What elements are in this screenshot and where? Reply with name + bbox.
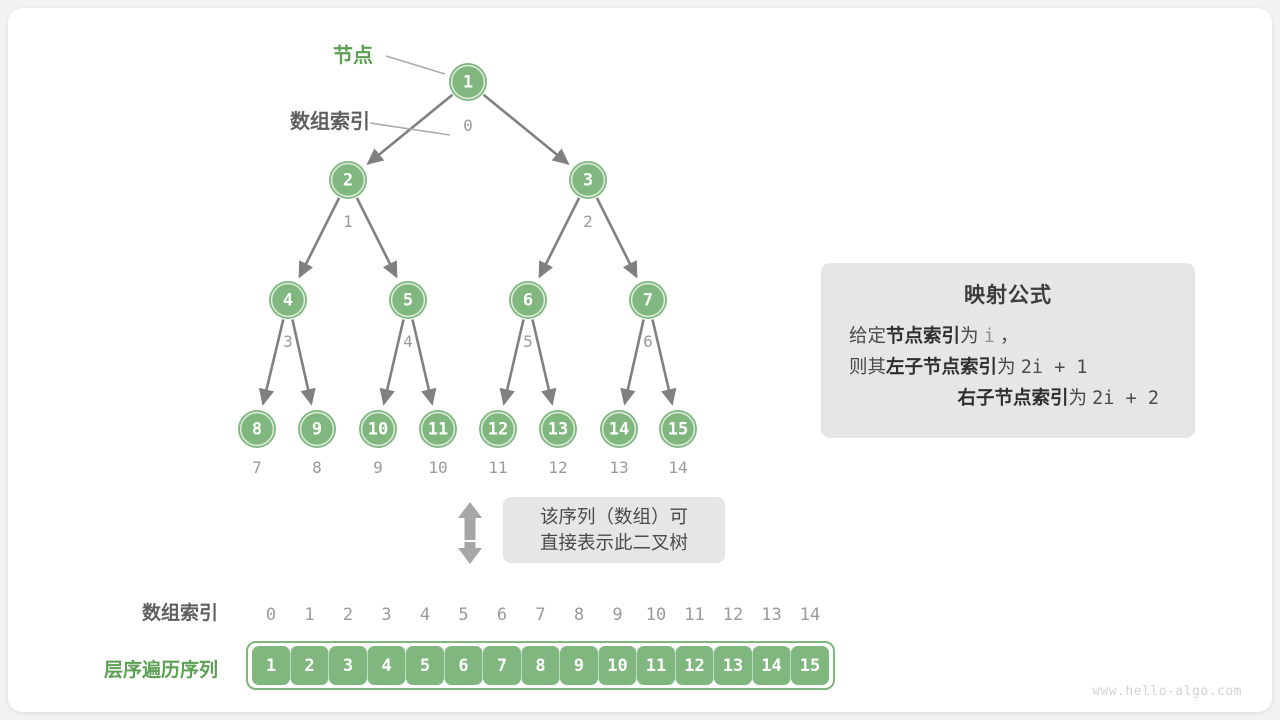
array-cell-value: 4	[381, 656, 391, 676]
array-cell[interactable]: 9	[560, 646, 598, 685]
array-cell[interactable]: 1	[252, 646, 290, 685]
formula-l1-mid: 为	[960, 325, 979, 346]
node-value: 3	[583, 171, 593, 191]
tree-node[interactable]: 7	[629, 281, 667, 319]
formula-l1-suffix: ，	[1000, 325, 1019, 346]
node-index-label: 8	[312, 458, 322, 477]
formula-l3-mid: 为	[1069, 387, 1088, 408]
node-value: 10	[368, 420, 388, 440]
tree-node[interactable]: 12	[479, 410, 517, 448]
array-cell-value: 7	[497, 656, 507, 676]
tree-edge	[540, 198, 580, 277]
array-index-value: 13	[761, 605, 781, 625]
annotation-node-label: 节点	[333, 43, 445, 74]
tree-node[interactable]: 6	[509, 281, 547, 319]
array-index-value: 1	[304, 605, 314, 625]
node-index-label: 12	[548, 458, 567, 477]
node-index-label: 7	[252, 458, 262, 477]
array-cell-value: 14	[761, 656, 781, 676]
array-index-value: 6	[497, 605, 507, 625]
diagram-canvas: 123456789101112131415 012345678910111213…	[0, 0, 1280, 720]
annotation-array-index-label: 数组索引	[290, 109, 450, 135]
node-value: 6	[523, 291, 533, 311]
array-index-value: 11	[684, 605, 704, 625]
sequence-callout-box: 该序列（数组）可 直接表示此二叉树	[503, 497, 725, 563]
array-cell-value: 12	[684, 656, 704, 676]
tree-edge	[533, 320, 553, 404]
array-cell-value: 1	[266, 656, 276, 676]
node-index-label: 1	[343, 212, 353, 231]
array-cell-value: 11	[646, 656, 666, 676]
array-cell-value: 5	[420, 656, 430, 676]
tree-edge	[625, 320, 644, 404]
node-value: 4	[283, 291, 293, 311]
tree-node[interactable]: 14	[600, 410, 638, 448]
sequence-callout-text: 该序列（数组）可 直接表示此二叉树	[540, 504, 688, 555]
array-index-value: 14	[800, 605, 820, 625]
formula-l2-expr: 2i + 1	[1021, 357, 1088, 378]
array-index-value: 3	[381, 605, 391, 625]
array-index-value: 4	[420, 605, 430, 625]
node-value: 14	[609, 420, 629, 440]
array-cell-value: 10	[607, 656, 627, 676]
array-cell[interactable]: 7	[483, 646, 521, 685]
array-index-label-text: 数组索引	[290, 109, 370, 133]
array-index-value: 2	[343, 605, 353, 625]
formula-l1-prefix: 给定	[849, 325, 886, 346]
tree-edge	[484, 95, 568, 164]
formula-l2-prefix: 则其	[849, 356, 886, 377]
formula-l1-var: i	[984, 326, 995, 347]
tree-node[interactable]: 3	[569, 161, 607, 199]
array-index-value: 9	[612, 605, 622, 625]
tree-edge	[263, 319, 283, 403]
node-index-label: 11	[488, 458, 507, 477]
tree-node[interactable]: 10	[359, 410, 397, 448]
array-section: 数组索引 层序遍历序列 01234567891011121314 1234567…	[104, 601, 834, 689]
formula-l1-bold: 节点索引	[886, 325, 960, 346]
tree-node[interactable]: 13	[539, 410, 577, 448]
node-value: 7	[643, 291, 653, 311]
array-index-value: 12	[723, 605, 743, 625]
tree-node[interactable]: 9	[298, 410, 336, 448]
tree-edge	[357, 198, 397, 277]
array-cell[interactable]: 3	[329, 646, 367, 685]
node-value: 12	[488, 420, 508, 440]
formula-l3-expr: 2i + 2	[1092, 388, 1159, 409]
array-index-value: 0	[266, 605, 276, 625]
node-index-label: 13	[609, 458, 628, 477]
node-label-text: 节点	[333, 43, 373, 67]
array-cell[interactable]: 11	[637, 646, 675, 685]
formula-lines: 给定节点索引为 i ， 则其左子节点索引为 2i + 1 右子节点索引为 2i …	[821, 321, 1195, 414]
tree-edge	[413, 320, 433, 404]
node-value: 8	[252, 420, 262, 440]
tree-edge	[300, 198, 340, 277]
tree-edge	[384, 320, 404, 404]
array-cell-value: 6	[458, 656, 468, 676]
node-value: 11	[428, 420, 448, 440]
array-index-row-label: 数组索引	[142, 601, 218, 624]
formula-line-2: 则其左子节点索引为 2i + 1	[849, 352, 1167, 383]
array-cell-value: 15	[800, 656, 820, 676]
tree-node[interactable]: 1	[449, 63, 487, 101]
node-index-label: 14	[668, 458, 687, 477]
tree-node[interactable]: 4	[269, 281, 307, 319]
tree-node[interactable]: 2	[329, 161, 367, 199]
tree-edge	[504, 320, 524, 404]
node-value: 9	[312, 420, 322, 440]
node-value: 15	[668, 420, 688, 440]
node-index-label: 3	[283, 332, 293, 351]
level-order-row-label: 层序遍历序列	[104, 658, 218, 681]
formula-title: 映射公式	[821, 279, 1195, 309]
node-index-label: 0	[463, 116, 473, 135]
array-cell[interactable]: 8	[522, 646, 560, 685]
formula-l2-bold: 左子节点索引	[886, 356, 997, 377]
formula-line-1: 给定节点索引为 i ，	[849, 321, 1167, 352]
array-cell[interactable]: 13	[714, 646, 752, 685]
tree-edges	[263, 95, 672, 404]
array-cell[interactable]: 15	[791, 646, 829, 685]
node-value: 5	[403, 291, 413, 311]
array-cell[interactable]: 14	[753, 646, 791, 685]
node-index-label: 5	[523, 332, 533, 351]
node-index-label: 9	[373, 458, 383, 477]
formula-line-3: 右子节点索引为 2i + 2	[849, 383, 1167, 414]
array-cell[interactable]: 10	[599, 646, 637, 685]
array-cell-value: 2	[304, 656, 314, 676]
array-cells-row: 123456789101112131415	[252, 646, 829, 685]
mapping-formula-box: 映射公式 给定节点索引为 i ， 则其左子节点索引为 2i + 1 右子节点索引…	[821, 263, 1195, 438]
array-index-value: 8	[574, 605, 584, 625]
tree-node[interactable]: 5	[389, 281, 427, 319]
node-value: 2	[343, 171, 353, 191]
tree-node[interactable]: 8	[238, 410, 276, 448]
tree-edge	[597, 198, 637, 277]
node-index-label: 4	[403, 332, 413, 351]
array-index-value: 10	[646, 605, 666, 625]
array-index-row: 01234567891011121314	[266, 605, 820, 625]
up-down-arrow-icon	[458, 502, 482, 564]
tree-edge	[292, 320, 311, 404]
node-value: 1	[463, 73, 473, 93]
array-cell-value: 9	[574, 656, 584, 676]
formula-l3-bold: 右子节点索引	[958, 387, 1069, 408]
array-index-value: 7	[535, 605, 545, 625]
array-cell[interactable]: 5	[406, 646, 444, 685]
array-cell[interactable]: 6	[445, 646, 483, 685]
array-index-value: 5	[458, 605, 468, 625]
diagram-card: 123456789101112131415 012345678910111213…	[8, 8, 1272, 712]
tree-node[interactable]: 11	[419, 410, 457, 448]
tree-node[interactable]: 15	[659, 410, 697, 448]
array-cell-value: 8	[535, 656, 545, 676]
watermark: www.hello-algo.com	[1092, 684, 1242, 699]
array-cell[interactable]: 4	[368, 646, 406, 685]
array-cell[interactable]: 2	[291, 646, 329, 685]
node-index-label: 6	[643, 332, 653, 351]
node-value: 13	[548, 420, 568, 440]
tree-edge	[653, 320, 673, 404]
array-cell[interactable]: 12	[676, 646, 714, 685]
node-index-label: 2	[583, 212, 593, 231]
formula-l2-mid: 为	[997, 356, 1016, 377]
node-index-label: 10	[428, 458, 447, 477]
array-cell-value: 3	[343, 656, 353, 676]
array-cell-value: 13	[723, 656, 743, 676]
